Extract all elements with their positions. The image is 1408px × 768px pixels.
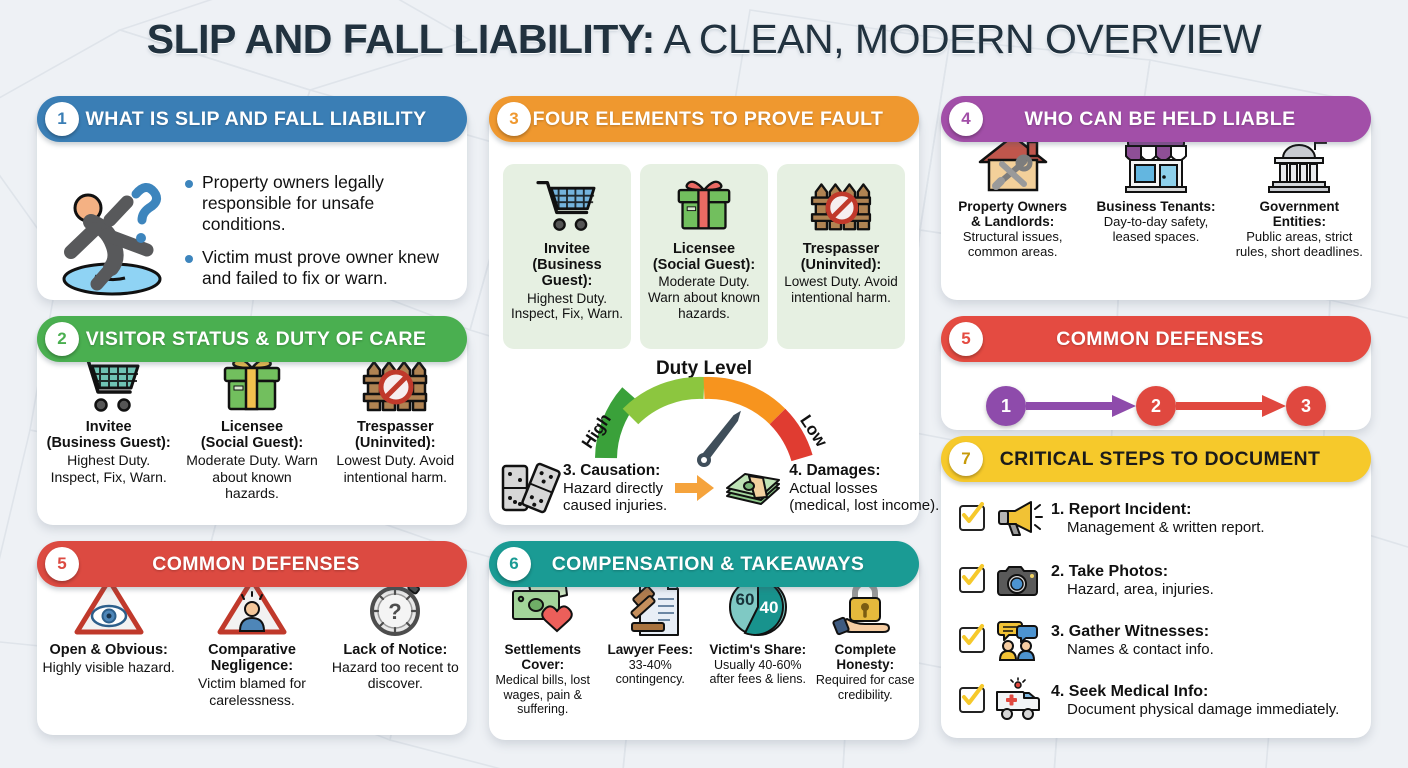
step-2-text: 2. Take Photos: Hazard, area, injuries. [1051,563,1214,598]
item-title: Licensee [221,419,283,435]
item-text: Hazard too recent to discover. [328,659,463,691]
arrow-right-icon [673,473,717,503]
item-subtitle: Cover: [521,657,564,672]
card-common-defenses-right: 1 2 3 5 COMMON DEFENSES [941,330,1371,430]
card7-number-badge: 7 [949,442,983,476]
item-title: Open & Obvious: [49,642,167,658]
card1-bullet-list: Property owners legally responsible for … [185,166,455,306]
item-title: Property Owners [958,199,1067,214]
checkbox-4[interactable] [959,687,985,713]
comp-settlements: SettlementsCover: Medical bills, lost wa… [489,571,597,716]
item-text: Lowest Duty. Avoid intentional harm. [328,452,463,484]
slipping-person-icon [51,166,179,306]
ambulance-icon [995,680,1041,720]
causation-text: 3. Causation: Hazard directly caused inj… [563,462,667,514]
card2-items: Invitee(Business Guest): Highest Duty. I… [37,348,467,501]
bullet-dot-icon [185,255,193,263]
step-4-heading: 4. Seek Medical Info: [1051,683,1339,701]
card7-header[interactable]: 7 CRITICAL STEPS TO DOCUMENT [941,436,1371,482]
fence-no-entry-icon [782,174,900,236]
item-subtitle: & Landlords: [971,214,1054,229]
gift-box-icon [645,174,763,236]
liable-business-tenants: Business Tenants: Day-to-day safety, lea… [1084,128,1227,260]
item-text: Structural issues, common areas. [945,230,1080,260]
card3-header[interactable]: 3 FOUR ELEMENTS TO PROVE FAULT [489,96,919,142]
card5left-number-badge: 5 [45,547,79,581]
list-item: Property owners legally responsible for … [185,172,455,235]
comp-complete-honesty: CompleteHonesty: Required for case credi… [812,571,920,716]
pie-label-a: 60 [735,590,754,609]
arrow-connector-1 [1026,395,1136,417]
card2-item-trespasser: Trespasser(Uninvited): Lowest Duty. Avoi… [324,348,467,501]
bullet-text: Victim must prove owner knew and failed … [202,247,455,289]
card4-items: Property Owners& Landlords: Structural i… [941,128,1371,260]
item-text: Required for case credibility. [816,673,916,702]
item-text: Moderate Duty. Warn about known hazards. [184,452,319,500]
card6-number-badge: 6 [497,547,531,581]
step-row-3: 3. Gather Witnesses: Names & contact inf… [959,620,1357,660]
step-3-detail: Names & contact info. [1067,641,1214,658]
card-compensation-takeaways: SettlementsCover: Medical bills, lost wa… [489,555,919,740]
card3-number-badge: 3 [497,102,531,136]
item-subtitle: (Social Guest): [653,257,755,273]
item-text: Highest Duty. Inspect, Fix, Warn. [508,291,626,322]
step-2-detail: Hazard, area, injuries. [1067,581,1214,598]
item-title: Government Entities: [1260,199,1340,229]
item-title: Lack of Notice: [343,642,447,658]
card4-header[interactable]: 4 WHO CAN BE HELD LIABLE [941,96,1371,142]
dominoes-icon [499,462,557,514]
step-row-2: 2. Take Photos: Hazard, area, injuries. [959,560,1357,600]
checkbox-3[interactable] [959,627,985,653]
arrow-connector-2 [1176,395,1286,417]
item-title: Trespasser [803,241,880,257]
card1-number-badge: 1 [45,102,79,136]
step-4-detail: Document physical damage immediately. [1067,701,1339,718]
card-visitor-status: Invitee(Business Guest): Highest Duty. I… [37,330,467,525]
page-title-rest: A CLEAN, MODERN OVERVIEW [655,16,1261,62]
card1-body: Property owners legally responsible for … [51,166,455,306]
item-subtitle: (Uninvited): [801,257,882,273]
item-title: Victim's Share: [709,642,806,657]
item-text: Victim blamed for carelessness. [184,675,319,707]
damages-heading: 4. Damages: [789,462,939,480]
defense-lack-of-notice: ? Lack of Notice: Hazard too recent to d… [324,571,467,708]
gauge-svg: High Low [579,382,829,466]
card5left-items: Open & Obvious: Highly visible hazard. C… [37,571,467,708]
card-four-elements: Invitee(Business Guest): Highest Duty. I… [489,110,919,525]
gauge-title: Duty Level [489,358,919,380]
card2-item-invitee: Invitee(Business Guest): Highest Duty. I… [37,348,180,501]
defense-comparative-negligence: ComparativeNegligence: Victim blamed for… [180,571,323,708]
step-row-1: 1. Report Incident: Management & written… [959,498,1357,538]
card6-header[interactable]: 6 COMPENSATION & TAKEAWAYS [489,541,919,587]
card7-title: CRITICAL STEPS TO DOCUMENT [983,448,1371,471]
damages-line2: (medical, lost income). [789,497,939,514]
comp-lawyer-fees: Lawyer Fees: 33-40% contingency. [597,571,705,716]
item-text: Public areas, strict rules, short deadli… [1232,230,1367,260]
camera-icon [995,560,1041,600]
damages-text: 4. Damages: Actual losses (medical, lost… [789,462,939,514]
causation-line1: Hazard directly [563,480,667,497]
card5left-header[interactable]: 5 COMMON DEFENSES [37,541,467,587]
item-title: Invitee [86,419,132,435]
item-subtitle: (Business Guest): [532,257,601,289]
element-invitee: Invitee(Business Guest): Highest Duty. I… [503,164,631,349]
step-1-heading: 1. Report Incident: [1051,501,1265,519]
step-3-text: 3. Gather Witnesses: Names & contact inf… [1051,623,1214,658]
element-trespasser: Trespasser(Uninvited): Lowest Duty. Avoi… [777,164,905,349]
step-circle-2[interactable]: 2 [1136,386,1176,426]
item-text: Moderate Duty. Warn about known hazards. [645,274,763,321]
infographic-page: SLIP AND FALL LIABILITY: A CLEAN, MODERN… [0,0,1408,768]
bullet-dot-icon [185,180,193,188]
list-item: Victim must prove owner knew and failed … [185,247,455,289]
item-text: Lowest Duty. Avoid intentional harm. [782,274,900,305]
causation-line2: caused injuries. [563,497,667,514]
item-subtitle: Negligence: [211,658,293,674]
card5right-title: COMMON DEFENSES [983,328,1371,351]
card2-number-badge: 2 [45,322,79,356]
card1-title: WHAT IS SLIP AND FALL LIABILITY [79,108,467,131]
card3-subcards: Invitee(Business Guest): Highest Duty. I… [503,164,905,349]
svg-text:?: ? [389,599,402,624]
card4-number-badge: 4 [949,102,983,136]
card2-item-licensee: Licensee(Social Guest): Moderate Duty. W… [180,348,323,501]
card-common-defenses-left: Open & Obvious: Highly visible hazard. C… [37,555,467,735]
card3-causation-damages: 3. Causation: Hazard directly caused inj… [499,462,909,514]
page-title: SLIP AND FALL LIABILITY: A CLEAN, MODERN… [0,16,1408,63]
megaphone-icon [995,498,1041,538]
item-text: Medical bills, lost wages, pain & suffer… [493,673,593,716]
card-what-is-slip-and-fall: Property owners legally responsible for … [37,110,467,300]
step-circle-1[interactable]: 1 [986,386,1026,426]
card5right-number-badge: 5 [949,322,983,356]
item-text: Highest Duty. Inspect, Fix, Warn. [41,452,176,484]
item-subtitle: Honesty: [836,657,894,672]
damages-block: 4. Damages: Actual losses (medical, lost… [723,462,939,514]
item-subtitle: (Business Guest): [47,435,171,451]
damages-line1: Actual losses [789,480,939,497]
checkbox-2[interactable] [959,567,985,593]
cash-stack-icon [723,464,783,512]
card5left-title: COMMON DEFENSES [79,553,467,576]
card2-header[interactable]: 2 VISITOR STATUS & DUTY OF CARE [37,316,467,362]
item-title: Business Tenants: [1096,199,1215,214]
liable-government-entities: Government Entities: Public areas, stric… [1228,128,1371,260]
item-text: Day-to-day safety, leased spaces. [1088,215,1223,245]
duty-level-gauge: Duty Level High Low [489,358,919,466]
item-title: Complete [834,642,896,657]
card5right-header[interactable]: 5 COMMON DEFENSES [941,316,1371,362]
card2-title: VISITOR STATUS & DUTY OF CARE [79,328,467,351]
bullet-text: Property owners legally responsible for … [202,172,455,235]
step-2-heading: 2. Take Photos: [1051,563,1214,581]
page-title-bold: SLIP AND FALL LIABILITY: [147,16,655,62]
defense-steps: 1 2 3 [941,386,1371,426]
step-circle-3[interactable]: 3 [1286,386,1326,426]
item-text: Highly visible hazard. [41,659,176,675]
card4-title: WHO CAN BE HELD LIABLE [983,108,1371,131]
causation-block: 3. Causation: Hazard directly caused inj… [499,462,667,514]
card3-title: FOUR ELEMENTS TO PROVE FAULT [531,108,919,131]
pie-label-b: 40 [759,598,778,617]
step-row-4: 4. Seek Medical Info: Document physical … [959,680,1357,720]
card-critical-steps: 1. Report Incident: Management & written… [941,450,1371,738]
element-licensee: Licensee(Social Guest): Moderate Duty. W… [640,164,768,349]
comp-victims-share: 60 40 Victim's Share: Usually 40-60% aft… [704,571,812,716]
card1-header[interactable]: 1 WHAT IS SLIP AND FALL LIABILITY [37,96,467,142]
item-title: Licensee [673,241,735,257]
item-title: Settlements [504,642,581,657]
item-text: 33-40% contingency. [601,658,701,687]
liable-property-owners: Property Owners& Landlords: Structural i… [941,128,1084,260]
item-text: Usually 40-60% after fees & liens. [708,658,808,687]
shopping-cart-icon [508,174,626,236]
defense-open-obvious: Open & Obvious: Highly visible hazard. [37,571,180,708]
card6-title: COMPENSATION & TAKEAWAYS [531,553,919,576]
step-3-heading: 3. Gather Witnesses: [1051,623,1214,641]
item-title: Lawyer Fees: [607,642,693,657]
item-subtitle: (Social Guest): [201,435,303,451]
step-1-text: 1. Report Incident: Management & written… [1051,501,1265,536]
checkbox-1[interactable] [959,505,985,531]
item-title: Trespasser [357,419,434,435]
item-title: Invitee [544,241,590,257]
card6-items: SettlementsCover: Medical bills, lost wa… [489,571,919,716]
witnesses-icon [995,620,1041,660]
card-who-can-be-held-liable: Property Owners& Landlords: Structural i… [941,110,1371,300]
item-subtitle: (Uninvited): [355,435,436,451]
step-1-detail: Management & written report. [1067,519,1265,536]
step-4-text: 4. Seek Medical Info: Document physical … [1051,683,1339,718]
item-title: Comparative [208,642,296,658]
causation-heading: 3. Causation: [563,462,667,480]
